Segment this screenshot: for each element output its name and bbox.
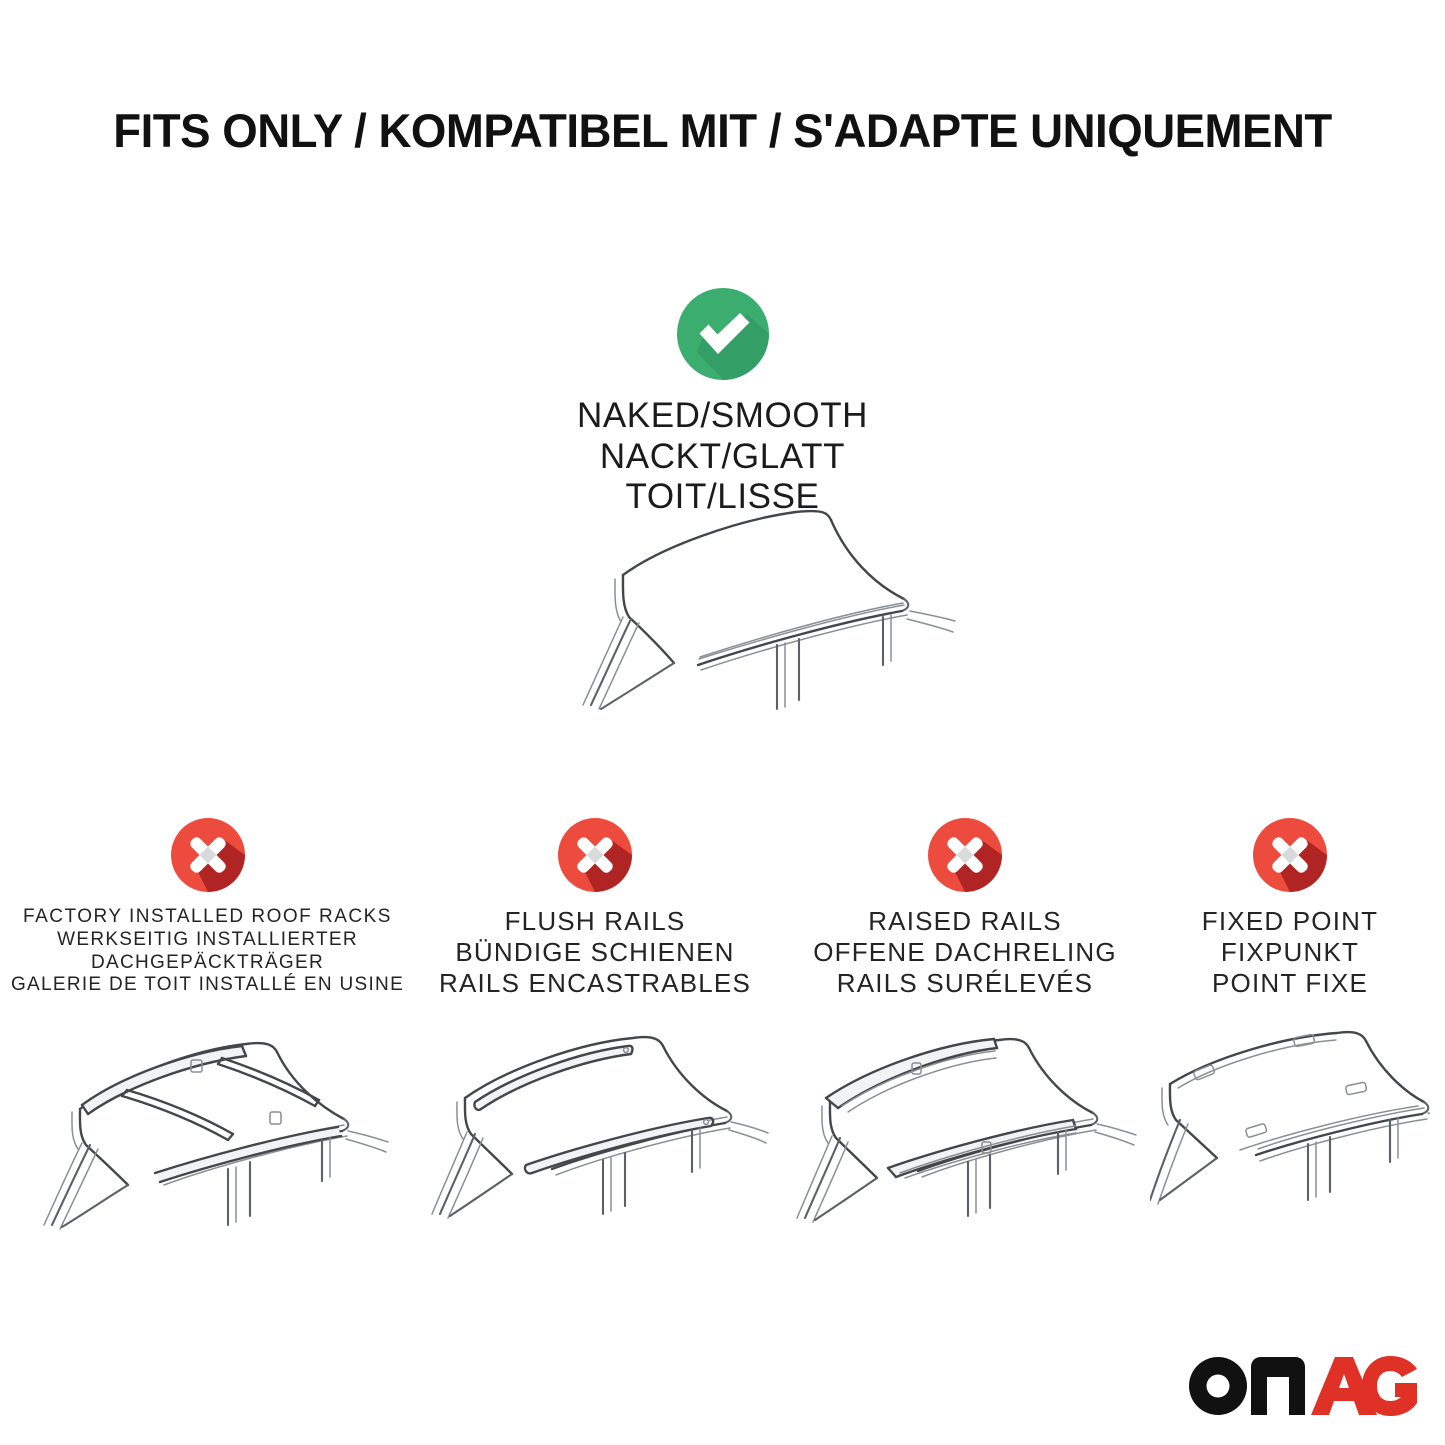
omac-logo <box>1185 1355 1417 1417</box>
raised-rails-roof-illustration <box>790 1022 1140 1252</box>
label-de-2: DACHGEPÄCKTRÄGER <box>10 952 405 975</box>
incompatible-labels: FACTORY INSTALLED ROOF RACKS WERKSEITIG … <box>10 906 405 997</box>
incompatible-labels: FLUSH RAILS BÜNDIGE SCHIENEN RAILS ENCAS… <box>420 906 770 1000</box>
label-en: FLUSH RAILS <box>420 906 770 937</box>
red-cross-circle-icon <box>171 818 245 892</box>
label-de: FIXPUNKT <box>1150 937 1430 968</box>
fixed-point-roof-illustration <box>1150 1022 1430 1252</box>
label-fr: POINT FIXE <box>1150 968 1430 999</box>
compatible-label-de: NACKT/GLATT <box>0 437 1445 478</box>
red-cross-circle-icon <box>928 818 1002 892</box>
incompatible-item-factory-roof-racks: FACTORY INSTALLED ROOF RACKS WERKSEITIG … <box>10 818 405 1249</box>
incompatible-labels: FIXED POINT FIXPUNKT POINT FIXE <box>1150 906 1430 1000</box>
green-check-circle-icon <box>677 288 769 380</box>
label-en: RAISED RAILS <box>790 906 1140 937</box>
factory-roof-rack-illustration <box>10 1019 405 1249</box>
red-cross-circle-icon <box>558 818 632 892</box>
label-fr: GALERIE DE TOIT INSTALLÉ EN USINE <box>10 974 405 997</box>
compatible-section: NAKED/SMOOTH NACKT/GLATT TOIT/LISSE <box>0 288 1445 518</box>
label-fr: RAILS ENCASTRABLES <box>420 968 770 999</box>
label-de-1: WERKSEITIG INSTALLIERTER <box>10 929 405 952</box>
incompatible-labels: RAISED RAILS OFFENE DACHRELING RAILS SUR… <box>790 906 1140 1000</box>
label-en: FACTORY INSTALLED ROOF RACKS <box>10 906 405 929</box>
incompatible-item-raised-rails: RAISED RAILS OFFENE DACHRELING RAILS SUR… <box>790 818 1140 1252</box>
incompatible-section: FACTORY INSTALLED ROOF RACKS WERKSEITIG … <box>0 818 1445 1288</box>
label-de: OFFENE DACHRELING <box>790 937 1140 968</box>
label-en: FIXED POINT <box>1150 906 1430 937</box>
page-title: FITS ONLY / KOMPATIBEL MIT / S'ADAPTE UN… <box>22 103 1424 158</box>
compatible-label-en: NAKED/SMOOTH <box>0 396 1445 437</box>
red-cross-circle-icon <box>1253 818 1327 892</box>
flush-rails-roof-illustration <box>420 1022 770 1252</box>
label-fr: RAILS SURÉLEVÉS <box>790 968 1140 999</box>
naked-smooth-roof-illustration <box>455 495 1015 760</box>
label-de: BÜNDIGE SCHIENEN <box>420 937 770 968</box>
incompatible-item-fixed-point: FIXED POINT FIXPUNKT POINT FIXE <box>1150 818 1430 1252</box>
incompatible-item-flush-rails: FLUSH RAILS BÜNDIGE SCHIENEN RAILS ENCAS… <box>420 818 770 1252</box>
